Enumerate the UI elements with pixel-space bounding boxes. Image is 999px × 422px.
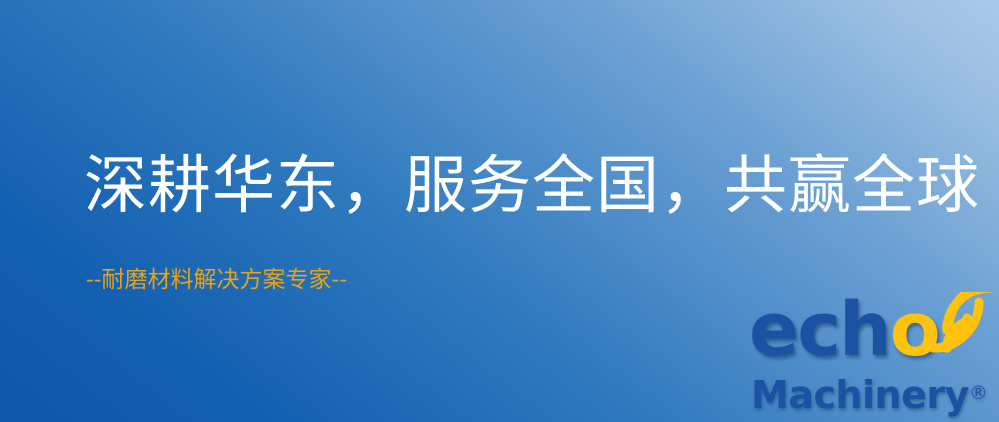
page-title: 深耕华东，服务全国，共赢全球	[84, 147, 980, 225]
banner-subtitle: --耐磨材料解决方案专家--	[86, 264, 347, 296]
logo-echo-text: echo	[749, 290, 939, 370]
logo-tagline-text: Machinery	[751, 373, 969, 417]
registered-trademark-icon: ®	[969, 382, 988, 404]
logo-wordmark: echo	[745, 296, 999, 376]
promotional-banner: 深耕华东，服务全国，共赢全球 --耐磨材料解决方案专家-- echo M	[0, 0, 999, 422]
logo-tagline: Machinery®	[751, 370, 988, 418]
company-logo: echo Machinery®	[745, 296, 999, 422]
signal-waves-icon	[927, 292, 999, 354]
logo-echo-blue-letters: ech	[749, 287, 890, 373]
